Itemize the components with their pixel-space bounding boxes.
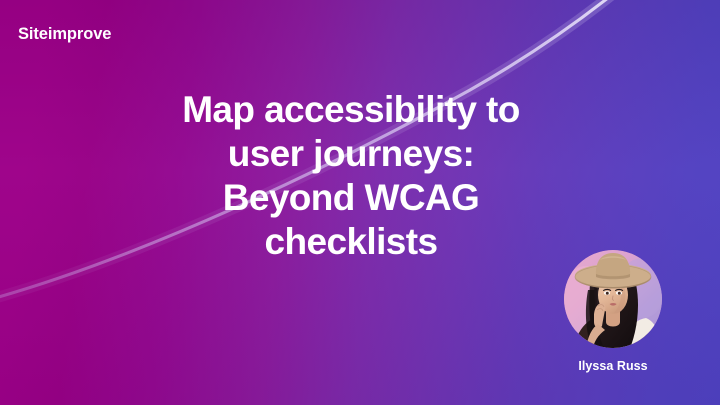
speaker-block: Ilyssa Russ [552, 250, 674, 373]
brand-logo: Siteimprove [18, 26, 111, 43]
presentation-slide: Siteimprove Map accessibility to user jo… [0, 0, 720, 405]
slide-title: Map accessibility to user journeys: Beyo… [60, 88, 642, 264]
avatar [564, 250, 662, 348]
speaker-name: Ilyssa Russ [552, 360, 674, 373]
